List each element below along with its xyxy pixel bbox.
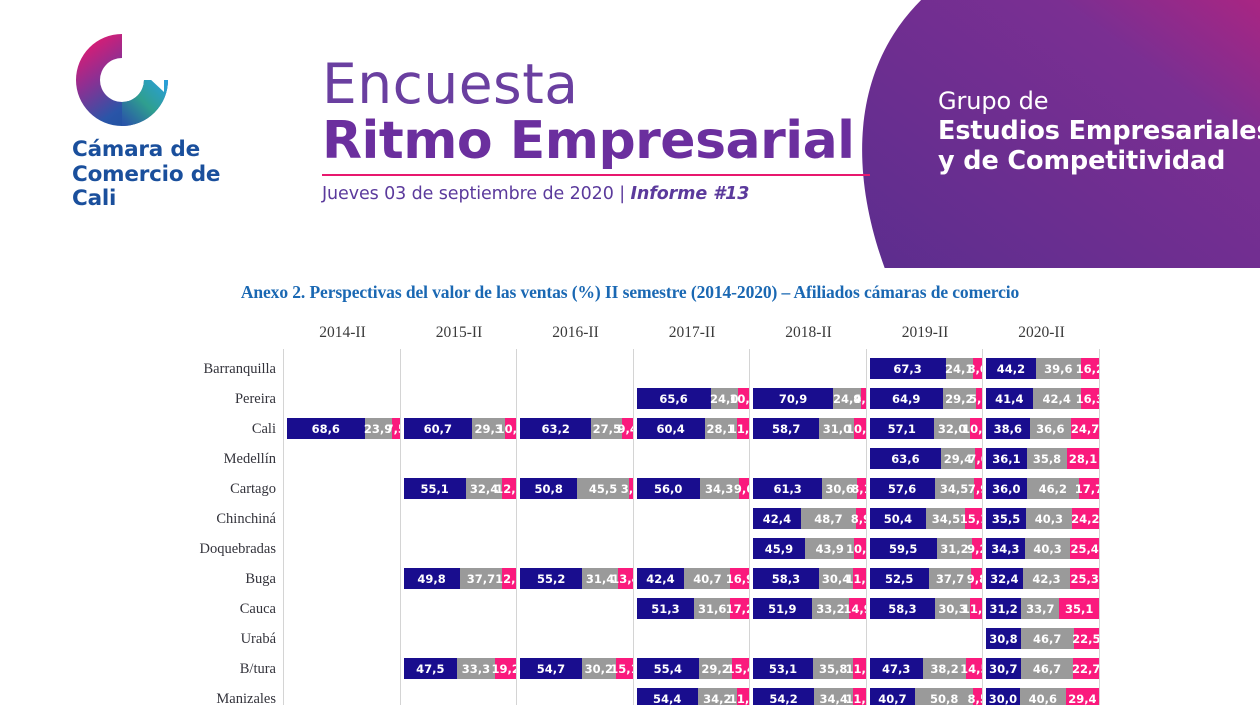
- bar-value-label: 31,2: [989, 602, 1017, 616]
- panel-header-2016-II: 2016-II: [519, 324, 632, 342]
- logo-line-2: Comercio de: [72, 163, 272, 188]
- bar-value-label: 3,7: [621, 482, 633, 496]
- bar-segment-aumentar-: 52,5: [870, 568, 929, 589]
- bar-segment-aumentar-: 68,6: [287, 418, 365, 439]
- bar-value-label: 29,4: [1068, 692, 1096, 705]
- logo-line-3: Cali: [72, 187, 272, 212]
- row-label-manizales: Manizales: [216, 684, 276, 705]
- bar-value-label: 50,8: [930, 692, 958, 705]
- bar-value-label: 16,9: [726, 572, 750, 586]
- bar-2020-II-pereira[interactable]: 41,442,416,3: [986, 388, 1099, 409]
- bar-value-label: 22,5: [1072, 632, 1099, 646]
- bar-2019-II-chinchin-[interactable]: 50,434,515,1: [870, 508, 983, 529]
- chart-grid: BarranquillaPereiraCaliMedellínCartagoCh…: [0, 349, 1260, 705]
- bar-value-label: 41,4: [995, 392, 1023, 406]
- bar-segment-aumentar-: 57,6: [870, 478, 935, 499]
- bar-2020-II-cauca[interactable]: 31,233,735,1: [986, 598, 1099, 619]
- bar-segment-aumentar-: 60,4: [637, 418, 705, 439]
- publication-date: Jueves 03 de septiembre de 2020 |: [322, 184, 630, 204]
- row-label-doquebradas: Doquebradas: [199, 534, 276, 564]
- bar-2017-II-buga[interactable]: 42,440,716,9: [637, 568, 750, 589]
- bar-value-label: 68,6: [312, 422, 340, 436]
- bar-segment-seguir-igual: 39,6: [1036, 358, 1081, 379]
- row-label-axis: BarranquillaPereiraCaliMedellínCartagoCh…: [180, 349, 286, 705]
- bar-value-label: 64,9: [892, 392, 920, 406]
- bar-segment-aumentar-: 49,8: [404, 568, 460, 589]
- bar-segment-disminuir-: 10,4: [738, 388, 750, 409]
- bar-segment-disminuir-: 11,4: [737, 688, 750, 705]
- bar-value-label: 35,8: [819, 662, 847, 676]
- bar-value-label: 17,2: [726, 602, 750, 616]
- bar-segment-disminuir-: 25,3: [1070, 568, 1099, 589]
- logo-wordmark: Cámara de Comercio de Cali: [72, 138, 272, 212]
- panel-2014-II: 68,623,97,5: [283, 349, 400, 705]
- bar-value-label: 10,2: [846, 422, 866, 436]
- bar-segment-aumentar-: 34,3: [986, 538, 1025, 559]
- bar-value-label: 16,3: [1076, 392, 1099, 406]
- bar-segment-disminuir-: 13,4: [618, 568, 633, 589]
- panel-2016-II: 63,227,59,450,845,53,755,231,413,454,730…: [516, 349, 633, 705]
- bar-segment-disminuir-: 22,7: [1073, 658, 1099, 679]
- chart-title: Anexo 2. Perspectivas del valor de las v…: [0, 282, 1260, 303]
- bar-segment-seguir-igual: 46,7: [1021, 628, 1074, 649]
- bar-value-label: 67,3: [893, 362, 921, 376]
- bar-value-label: 33,2: [816, 602, 844, 616]
- group-line-2: Estudios Empresariales: [938, 116, 1260, 146]
- bar-value-label: 28,1: [1069, 452, 1097, 466]
- bar-segment-seguir-igual: 37,7: [929, 568, 972, 589]
- bar-segment-aumentar-: 42,4: [753, 508, 801, 529]
- bar-value-label: 60,4: [656, 422, 684, 436]
- bar-value-label: 47,3: [882, 662, 910, 676]
- bar-segment-aumentar-: 61,3: [753, 478, 822, 499]
- bar-segment-disminuir-: 9,8: [971, 568, 982, 589]
- bar-segment-seguir-igual: 48,7: [801, 508, 856, 529]
- bar-2018-II-pereira[interactable]: 70,924,94,2: [753, 388, 866, 409]
- bar-value-label: 12,6: [495, 572, 516, 586]
- bar-value-label: 58,7: [772, 422, 800, 436]
- bar-segment-disminuir-: 10,0: [505, 418, 516, 439]
- bar-2020-II-buga[interactable]: 32,442,325,3: [986, 568, 1099, 589]
- bar-segment-aumentar-: 41,4: [986, 388, 1033, 409]
- bar-segment-aumentar-: 57,1: [870, 418, 935, 439]
- bar-value-label: 8,5: [967, 692, 982, 705]
- bar-segment-disminuir-: 19,2: [495, 658, 517, 679]
- bar-value-label: 15,4: [727, 662, 750, 676]
- bar-value-label: 10,2: [846, 542, 866, 556]
- bar-segment-disminuir-: 11,4: [853, 688, 866, 705]
- bar-2014-II-cali[interactable]: 68,623,97,5: [287, 418, 400, 439]
- bar-2019-II-cartago[interactable]: 57,634,57,9: [870, 478, 983, 499]
- bar-value-label: 51,9: [768, 602, 796, 616]
- bar-2020-II-cali[interactable]: 38,636,624,7: [986, 418, 1099, 439]
- bar-2020-II-cartago[interactable]: 36,046,217,7: [986, 478, 1099, 499]
- bar-value-label: 55,2: [537, 572, 565, 586]
- bar-value-label: 32,4: [470, 482, 498, 496]
- bar-value-label: 7,5: [386, 422, 400, 436]
- row-label-b-tura: B/tura: [240, 654, 276, 684]
- bar-value-label: 17,7: [1075, 482, 1099, 496]
- report-number: Informe #13: [630, 184, 749, 204]
- bar-value-label: 15,1: [960, 512, 983, 526]
- bar-segment-aumentar-: 63,6: [870, 448, 942, 469]
- bar-segment-aumentar-: 44,2: [986, 358, 1036, 379]
- bar-segment-aumentar-: 47,5: [404, 658, 458, 679]
- bar-2016-II-buga[interactable]: 55,231,413,4: [520, 568, 633, 589]
- bar-value-label: 42,4: [763, 512, 791, 526]
- bar-segment-aumentar-: 54,7: [520, 658, 582, 679]
- bar-segment-disminuir-: 16,3: [1081, 388, 1099, 409]
- bar-value-label: 14,9: [843, 602, 866, 616]
- bar-value-label: 58,3: [772, 572, 800, 586]
- bar-value-label: 11,4: [845, 692, 866, 705]
- bar-segment-disminuir-: 15,1: [616, 658, 633, 679]
- bar-2020-II-chinchin-[interactable]: 35,540,324,2: [986, 508, 1099, 529]
- bar-segment-aumentar-: 53,1: [753, 658, 813, 679]
- row-label-buga: Buga: [245, 564, 276, 594]
- bar-2020-II-barranquilla[interactable]: 44,239,616,2: [986, 358, 1099, 379]
- panel-header-2015-II: 2015-II: [403, 324, 516, 342]
- bar-2020-II-urab-[interactable]: 30,846,722,5: [986, 628, 1099, 649]
- bar-segment-disminuir-: 10,9: [970, 418, 982, 439]
- bar-value-label: 19,2: [491, 662, 516, 676]
- bar-segment-aumentar-: 40,7: [870, 688, 916, 705]
- bar-segment-aumentar-: 36,0: [986, 478, 1027, 499]
- bar-value-label: 34,4: [819, 692, 847, 705]
- bar-2017-II-b-tura[interactable]: 55,429,215,4: [637, 658, 750, 679]
- group-line-3: y de Competitividad: [938, 146, 1260, 176]
- bar-value-label: 45,9: [765, 542, 793, 556]
- bar-value-label: 42,4: [1042, 392, 1070, 406]
- bar-2019-II-medell-n[interactable]: 63,629,47,0: [870, 448, 983, 469]
- bar-segment-seguir-igual: 42,4: [1033, 388, 1081, 409]
- bar-2017-II-manizales[interactable]: 54,434,211,4: [637, 688, 750, 705]
- bar-value-label: 34,3: [705, 482, 733, 496]
- bar-value-label: 63,2: [541, 422, 569, 436]
- bar-value-label: 8,6: [967, 362, 982, 376]
- panel-2020-II: 44,239,616,241,442,416,338,636,624,736,1…: [982, 349, 1100, 705]
- bar-2018-II-buga[interactable]: 58,330,411,3: [753, 568, 866, 589]
- bar-value-label: 40,6: [1029, 692, 1057, 705]
- bar-segment-disminuir-: 24,7: [1071, 418, 1099, 439]
- bar-segment-aumentar-: 30,0: [986, 688, 1020, 705]
- bar-segment-disminuir-: 9,4: [622, 418, 633, 439]
- bar-2020-II-b-tura[interactable]: 30,746,722,7: [986, 658, 1099, 679]
- bar-value-label: 24,7: [1071, 422, 1099, 436]
- bar-2018-II-manizales[interactable]: 54,234,411,4: [753, 688, 866, 705]
- bar-segment-aumentar-: 32,4: [986, 568, 1023, 589]
- bar-2019-II-cauca[interactable]: 58,330,311,3: [870, 598, 983, 619]
- bar-segment-seguir-igual: 34,3: [700, 478, 739, 499]
- bar-segment-disminuir-: 16,9: [730, 568, 749, 589]
- bar-value-label: 7,0: [968, 452, 982, 466]
- bar-2020-II-manizales[interactable]: 30,040,629,4: [986, 688, 1099, 705]
- bar-value-label: 34,2: [703, 692, 731, 705]
- bar-value-label: 33,3: [462, 662, 490, 676]
- small-multiples-chart: 2014-II2015-II2016-II2017-II2018-II2019-…: [0, 324, 1260, 705]
- bar-2015-II-b-tura[interactable]: 47,533,319,2: [404, 658, 517, 679]
- row-label-chinchin-: Chinchiná: [216, 504, 276, 534]
- bar-segment-aumentar-: 55,2: [520, 568, 582, 589]
- bar-value-label: 16,2: [1076, 362, 1099, 376]
- bar-segment-disminuir-: 10,2: [854, 418, 866, 439]
- row-label-cartago: Cartago: [230, 474, 276, 504]
- bar-2017-II-cali[interactable]: 60,428,111,5: [637, 418, 750, 439]
- bar-2018-II-cauca[interactable]: 51,933,214,9: [753, 598, 866, 619]
- title-encuesta: Encuesta: [322, 58, 882, 112]
- bar-2017-II-pereira[interactable]: 65,624,010,4: [637, 388, 750, 409]
- bar-value-label: 31,4: [586, 572, 614, 586]
- bar-2018-II-cali[interactable]: 58,731,010,2: [753, 418, 866, 439]
- bar-value-label: 15,1: [610, 662, 633, 676]
- row-label-barranquilla: Barranquilla: [204, 354, 276, 384]
- bar-value-label: 50,8: [535, 482, 563, 496]
- bar-value-label: 30,6: [825, 482, 853, 496]
- bar-value-label: 31,2: [940, 542, 968, 556]
- bar-value-label: 47,5: [416, 662, 444, 676]
- bar-2019-II-pereira[interactable]: 64,929,25,9: [870, 388, 983, 409]
- bar-segment-disminuir-: 10,2: [854, 538, 866, 559]
- bar-segment-aumentar-: 47,3: [870, 658, 923, 679]
- row-label-cauca: Cauca: [240, 594, 276, 624]
- group-line-1: Grupo de: [938, 88, 1260, 116]
- bar-value-label: 24,2: [1071, 512, 1099, 526]
- bar-segment-disminuir-: 15,4: [732, 658, 749, 679]
- bar-segment-disminuir-: 22,5: [1074, 628, 1099, 649]
- panel-2018-II: 70,924,94,258,731,010,261,330,68,142,448…: [749, 349, 866, 705]
- bar-value-label: 50,4: [884, 512, 912, 526]
- bar-value-label: 40,3: [1035, 512, 1063, 526]
- panel-header-row: 2014-II2015-II2016-II2017-II2018-II2019-…: [0, 324, 1260, 349]
- bar-segment-aumentar-: 70,9: [753, 388, 833, 409]
- bar-segment-aumentar-: 50,8: [520, 478, 577, 499]
- bar-2015-II-buga[interactable]: 49,837,712,6: [404, 568, 517, 589]
- bar-segment-disminuir-: 8,9: [856, 508, 866, 529]
- bar-segment-aumentar-: 56,0: [637, 478, 700, 499]
- bar-value-label: 36,0: [992, 482, 1020, 496]
- bar-value-label: 10,0: [497, 422, 517, 436]
- panel-header-2020-II: 2020-II: [985, 324, 1098, 342]
- bar-value-label: 34,5: [932, 512, 960, 526]
- bar-value-label: 9,8: [967, 572, 983, 586]
- logo-line-1: Cámara de: [72, 138, 272, 163]
- bar-value-label: 34,3: [991, 542, 1019, 556]
- bar-value-label: 22,7: [1072, 662, 1099, 676]
- bar-value-label: 59,5: [889, 542, 917, 556]
- row-label-pereira: Pereira: [235, 384, 276, 414]
- bar-segment-disminuir-: 11,3: [970, 598, 983, 619]
- bar-value-label: 34,5: [940, 482, 968, 496]
- bar-segment-seguir-igual: 40,3: [1026, 508, 1072, 529]
- bar-value-label: 39,6: [1044, 362, 1072, 376]
- bar-segment-aumentar-: 58,3: [753, 568, 819, 589]
- bar-value-label: 35,1: [1065, 602, 1093, 616]
- bar-segment-disminuir-: 17,2: [730, 598, 749, 619]
- bar-segment-disminuir-: 9,2: [972, 538, 982, 559]
- bar-2019-II-b-tura[interactable]: 47,338,214,5: [870, 658, 983, 679]
- bar-value-label: 9,6: [734, 482, 750, 496]
- bar-segment-aumentar-: 63,2: [520, 418, 591, 439]
- bar-segment-seguir-igual: 46,2: [1027, 478, 1079, 499]
- bar-value-label: 12,5: [495, 482, 516, 496]
- bar-segment-disminuir-: 11,5: [737, 418, 750, 439]
- bar-value-label: 11,3: [845, 572, 866, 586]
- bar-2015-II-cartago[interactable]: 55,132,412,5: [404, 478, 517, 499]
- bar-value-label: 14,5: [960, 662, 982, 676]
- bar-value-label: 30,2: [585, 662, 613, 676]
- panel-2015-II: 60,729,310,055,132,412,549,837,712,647,5…: [400, 349, 517, 705]
- bar-value-label: 43,9: [815, 542, 843, 556]
- bar-segment-aumentar-: 50,4: [870, 508, 927, 529]
- bar-segment-disminuir-: 24,2: [1072, 508, 1099, 529]
- bar-segment-aumentar-: 64,9: [870, 388, 943, 409]
- bar-segment-aumentar-: 42,4: [637, 568, 685, 589]
- bar-value-label: 42,3: [1032, 572, 1060, 586]
- panel-2019-II: 67,324,18,664,929,25,957,132,010,963,629…: [866, 349, 983, 705]
- row-label-medell-n: Medellín: [224, 444, 276, 474]
- bar-segment-aumentar-: 30,7: [986, 658, 1021, 679]
- bar-value-label: 44,2: [997, 362, 1025, 376]
- bar-segment-disminuir-: 9,6: [739, 478, 750, 499]
- bar-value-label: 65,6: [659, 392, 687, 406]
- bar-2018-II-cartago[interactable]: 61,330,68,1: [753, 478, 866, 499]
- bar-segment-seguir-igual: 46,7: [1021, 658, 1074, 679]
- bar-value-label: 25,3: [1071, 572, 1099, 586]
- bar-value-label: 33,7: [1026, 602, 1054, 616]
- cccali-logo: Cámara de Comercio de Cali: [62, 30, 272, 212]
- bar-2016-II-cartago[interactable]: 50,845,53,7: [520, 478, 633, 499]
- bar-2016-II-cali[interactable]: 63,227,59,4: [520, 418, 633, 439]
- bar-value-label: 31,6: [698, 602, 726, 616]
- bar-segment-seguir-igual: 36,6: [1030, 418, 1071, 439]
- bar-value-label: 38,6: [994, 422, 1022, 436]
- bar-segment-aumentar-: 67,3: [870, 358, 946, 379]
- bar-value-label: 57,1: [888, 422, 916, 436]
- bar-value-label: 61,3: [773, 482, 801, 496]
- title-underline-rule: [322, 174, 870, 176]
- bar-value-label: 55,1: [420, 482, 448, 496]
- bar-value-label: 25,4: [1070, 542, 1098, 556]
- row-label-urab-: Urabá: [241, 624, 276, 654]
- bar-2019-II-barranquilla[interactable]: 67,324,18,6: [870, 358, 983, 379]
- bar-2019-II-cali[interactable]: 57,132,010,9: [870, 418, 983, 439]
- bar-segment-aumentar-: 60,7: [404, 418, 473, 439]
- bar-value-label: 10,9: [962, 422, 982, 436]
- bar-value-label: 29,2: [701, 662, 729, 676]
- bar-value-label: 54,4: [653, 692, 681, 705]
- panel-header-2014-II: 2014-II: [286, 324, 399, 342]
- publication-title: Encuesta Ritmo Empresarial Jueves 03 de …: [322, 58, 882, 204]
- bar-segment-disminuir-: 12,5: [502, 478, 516, 499]
- bar-value-label: 42,4: [646, 572, 674, 586]
- bar-value-label: 30,0: [989, 692, 1017, 705]
- research-group-label: Grupo de Estudios Empresariales y de Com…: [938, 88, 1260, 176]
- bar-value-label: 30,7: [989, 662, 1017, 676]
- bar-value-label: 8,1: [851, 482, 866, 496]
- bar-segment-seguir-igual: 40,7: [684, 568, 730, 589]
- row-label-cali: Cali: [252, 414, 276, 444]
- bar-segment-aumentar-: 54,2: [753, 688, 814, 705]
- bar-value-label: 10,4: [729, 392, 749, 406]
- bar-value-label: 46,2: [1039, 482, 1067, 496]
- bar-segment-aumentar-: 58,7: [753, 418, 819, 439]
- bar-segment-seguir-igual: 40,6: [1020, 688, 1066, 705]
- bar-2017-II-cauca[interactable]: 51,331,617,2: [637, 598, 750, 619]
- bar-value-label: 13,4: [611, 572, 633, 586]
- bar-segment-disminuir-: 8,6: [973, 358, 983, 379]
- bar-segment-aumentar-: 35,5: [986, 508, 1026, 529]
- bar-segment-seguir-igual: 33,3: [457, 658, 495, 679]
- bar-segment-seguir-igual: 40,3: [1025, 538, 1071, 559]
- bar-value-label: 9,4: [618, 422, 634, 436]
- bar-2019-II-doquebradas[interactable]: 59,531,29,2: [870, 538, 983, 559]
- bar-value-label: 51,3: [651, 602, 679, 616]
- bar-value-label: 46,7: [1033, 662, 1061, 676]
- bar-value-label: 54,7: [537, 662, 565, 676]
- bar-2018-II-b-tura[interactable]: 53,135,811,1: [753, 658, 866, 679]
- bar-2020-II-medell-n[interactable]: 36,135,828,1: [986, 448, 1099, 469]
- panel-header-2018-II: 2018-II: [752, 324, 865, 342]
- bar-value-label: 53,1: [769, 662, 797, 676]
- bar-value-label: 11,3: [962, 602, 983, 616]
- bar-segment-seguir-igual: 33,7: [1021, 598, 1059, 619]
- bar-value-label: 11,5: [729, 422, 750, 436]
- bar-value-label: 48,7: [814, 512, 842, 526]
- bar-segment-aumentar-: 65,6: [637, 388, 711, 409]
- bar-2015-II-cali[interactable]: 60,729,310,0: [404, 418, 517, 439]
- bar-2019-II-buga[interactable]: 52,537,79,8: [870, 568, 983, 589]
- bar-segment-aumentar-: 30,8: [986, 628, 1021, 649]
- bar-value-label: 46,7: [1033, 632, 1061, 646]
- panel-header-2017-II: 2017-II: [636, 324, 749, 342]
- bar-2018-II-doquebradas[interactable]: 45,943,910,2: [753, 538, 866, 559]
- report-page: Cámara de Comercio de Cali Encuesta Ritm…: [0, 0, 1260, 705]
- bar-segment-aumentar-: 55,1: [404, 478, 466, 499]
- bar-value-label: 9,2: [967, 542, 982, 556]
- bar-value-label: 70,9: [779, 392, 807, 406]
- bar-2019-II-manizales[interactable]: 40,750,88,5: [870, 688, 983, 705]
- bar-segment-disminuir-: 11,1: [853, 658, 866, 679]
- panel-2017-II: 65,624,010,460,428,111,556,034,39,642,44…: [633, 349, 750, 705]
- bar-2018-II-chinchin-[interactable]: 42,448,78,9: [753, 508, 866, 529]
- bar-value-label: 36,6: [1036, 422, 1064, 436]
- bar-value-label: 55,4: [654, 662, 682, 676]
- bar-value-label: 32,4: [990, 572, 1018, 586]
- bar-segment-aumentar-: 59,5: [870, 538, 937, 559]
- bar-segment-disminuir-: 16,2: [1081, 358, 1099, 379]
- bar-segment-disminuir-: 35,1: [1059, 598, 1099, 619]
- bar-value-label: 40,3: [1033, 542, 1061, 556]
- bar-segment-aumentar-: 31,2: [986, 598, 1021, 619]
- bar-2017-II-cartago[interactable]: 56,034,39,6: [637, 478, 750, 499]
- bar-segment-aumentar-: 58,3: [870, 598, 936, 619]
- bar-value-label: 35,5: [992, 512, 1020, 526]
- bar-segment-seguir-igual: 42,3: [1023, 568, 1071, 589]
- bar-2020-II-doquebradas[interactable]: 34,340,325,4: [986, 538, 1099, 559]
- bar-segment-disminuir-: 28,1: [1067, 448, 1099, 469]
- bar-value-label: 45,5: [589, 482, 617, 496]
- bar-segment-disminuir-: 14,9: [849, 598, 866, 619]
- bar-segment-aumentar-: 38,6: [986, 418, 1030, 439]
- bar-2016-II-b-tura[interactable]: 54,730,215,1: [520, 658, 633, 679]
- bar-value-label: 5,9: [969, 392, 983, 406]
- bar-value-label: 36,1: [992, 452, 1020, 466]
- bar-value-label: 8,9: [851, 512, 866, 526]
- bar-value-label: 40,7: [693, 572, 721, 586]
- bar-segment-seguir-igual: 50,8: [915, 688, 972, 705]
- bar-value-label: 63,6: [891, 452, 919, 466]
- bar-value-label: 37,7: [467, 572, 495, 586]
